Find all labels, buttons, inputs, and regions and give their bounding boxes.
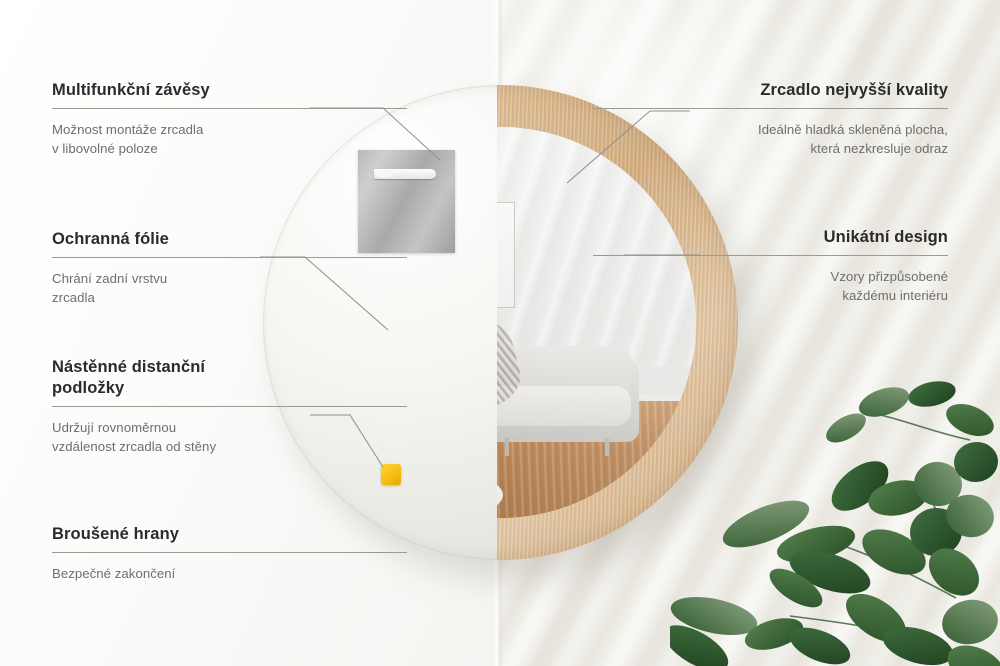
desc-line-2: v libovolné poloze — [52, 141, 158, 156]
desc-line-1: Ideálně hladká skleněná plocha, — [758, 122, 948, 137]
desc-line-1: Udržují rovnoměrnou — [52, 420, 176, 435]
callout-title: Ochranná fólie — [52, 229, 407, 250]
callout-description: Chrání zadní vrstvu zrcadla — [52, 270, 407, 307]
callout-description: Ideálně hladká skleněná plocha, která ne… — [593, 121, 948, 158]
callout-rule — [52, 406, 407, 407]
callout-rule — [593, 255, 948, 256]
callout-rule — [52, 108, 407, 109]
callout-rule — [52, 257, 407, 258]
callout-description: Bezpečné zakončení — [52, 565, 407, 584]
callout-title: Zrcadlo nejvyšší kvality — [593, 80, 948, 101]
callout-description: Vzory přizpůsobené každému interiéru — [593, 268, 948, 305]
callout-title: Multifunkční závěsy — [52, 80, 407, 101]
callout-title: Broušené hrany — [52, 524, 407, 545]
callout-title: Unikátní design — [593, 227, 948, 248]
callout-nastenne-distancni-podlozky: Nástěnné distanční podložky Udržují rovn… — [52, 357, 407, 457]
desc-line-1: Chrání zadní vrstvu — [52, 271, 167, 286]
callout-brousene-hrany: Broušené hrany Bezpečné zakončení — [52, 524, 407, 584]
desc-line-2: vzdálenost zrcadla od stěny — [52, 439, 216, 454]
title-line-1: Nástěnné distanční — [52, 358, 205, 376]
infographic-canvas: Multifunkční závěsy Možnost montáže zrca… — [0, 0, 1000, 666]
title-line-2: podložky — [52, 379, 124, 397]
callout-title: Nástěnné distanční podložky — [52, 357, 407, 399]
desc-line-1: Vzory přizpůsobené — [831, 269, 948, 284]
callout-rule — [52, 552, 407, 553]
callout-unikatni-design: Unikátní design Vzory přizpůsobené každé… — [593, 227, 948, 306]
callout-description: Možnost montáže zrcadla v libovolné polo… — [52, 121, 407, 158]
callout-zrcadlo-nejvyssi-kvality: Zrcadlo nejvyšší kvality Ideálně hladká … — [593, 80, 948, 159]
desc-line-2: která nezkresluje odraz — [811, 141, 949, 156]
desc-line-1: Možnost montáže zrcadla — [52, 122, 203, 137]
callout-ochranna-folie: Ochranná fólie Chrání zadní vrstvu zrcad… — [52, 229, 407, 308]
callout-multifunkcni-zavesy: Multifunkční závěsy Možnost montáže zrca… — [52, 80, 407, 159]
callout-description: Udržují rovnoměrnou vzdálenost zrcadla o… — [52, 419, 407, 456]
desc-line-2: každému interiéru — [842, 288, 948, 303]
desc-line-2: zrcadla — [52, 290, 95, 305]
callout-rule — [593, 108, 948, 109]
